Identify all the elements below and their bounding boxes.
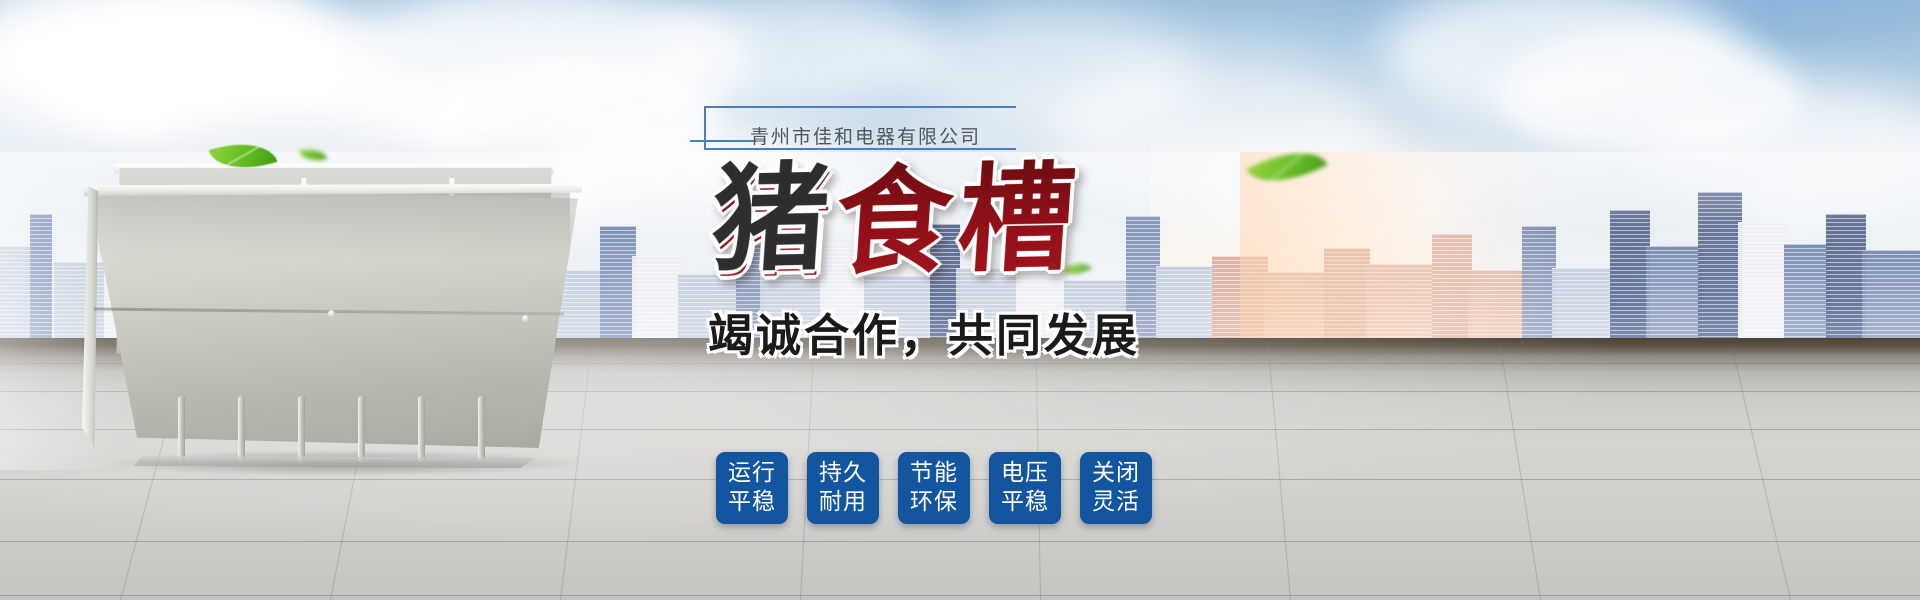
feature-badge[interactable]: 关闭 灵活 xyxy=(1080,452,1152,524)
feature-badge[interactable]: 持久 耐用 xyxy=(807,452,879,524)
badge-line-1: 持久 xyxy=(819,459,867,488)
trough-separator-bar xyxy=(298,396,305,462)
promo-banner: 青州市佳和电器有限公司 猪食槽 猪 竭诚合作，共同发展 运行 平稳 持久 耐用 … xyxy=(0,0,1920,600)
company-name: 青州市佳和电器有限公司 xyxy=(750,122,1040,149)
main-title: 猪食槽 xyxy=(709,155,1188,295)
trough-separator-bar xyxy=(178,396,185,462)
trough-bolt xyxy=(522,315,529,322)
badge-line-2: 灵活 xyxy=(1092,488,1140,517)
badge-line-1: 关闭 xyxy=(1092,459,1140,488)
feature-badge[interactable]: 节能 环保 xyxy=(898,452,970,524)
badge-line-2: 平稳 xyxy=(1001,488,1049,517)
company-underline-tick xyxy=(690,140,756,142)
feature-badge-list: 运行 平稳 持久 耐用 节能 环保 电压 平稳 关闭 灵活 xyxy=(716,452,1152,524)
company-name-block: 青州市佳和电器有限公司 xyxy=(690,96,1020,158)
badge-line-1: 电压 xyxy=(1001,459,1049,488)
badge-line-2: 环保 xyxy=(910,488,958,517)
sub-title: 竭诚合作，共同发展 xyxy=(708,308,1228,364)
skyline-warm-glow xyxy=(1240,152,1560,342)
badge-line-2: 耐用 xyxy=(819,488,867,517)
badge-line-2: 平稳 xyxy=(728,488,776,517)
trough-inner-shadow xyxy=(92,190,570,260)
company-frame-right-stub xyxy=(990,106,1016,108)
badge-line-1: 运行 xyxy=(728,459,776,488)
trough-separator-bar xyxy=(478,396,485,462)
trough-separator-bar xyxy=(418,396,425,462)
feature-badge[interactable]: 电压 平稳 xyxy=(989,452,1061,524)
badge-line-1: 节能 xyxy=(910,459,958,488)
left-light-wash xyxy=(0,0,120,470)
trough-separator-bar xyxy=(238,396,245,462)
product-image-pig-feeding-trough xyxy=(70,160,590,470)
feature-badge[interactable]: 运行 平稳 xyxy=(716,452,788,524)
trough-bolt xyxy=(328,310,335,317)
trough-separator-bar xyxy=(358,396,365,462)
